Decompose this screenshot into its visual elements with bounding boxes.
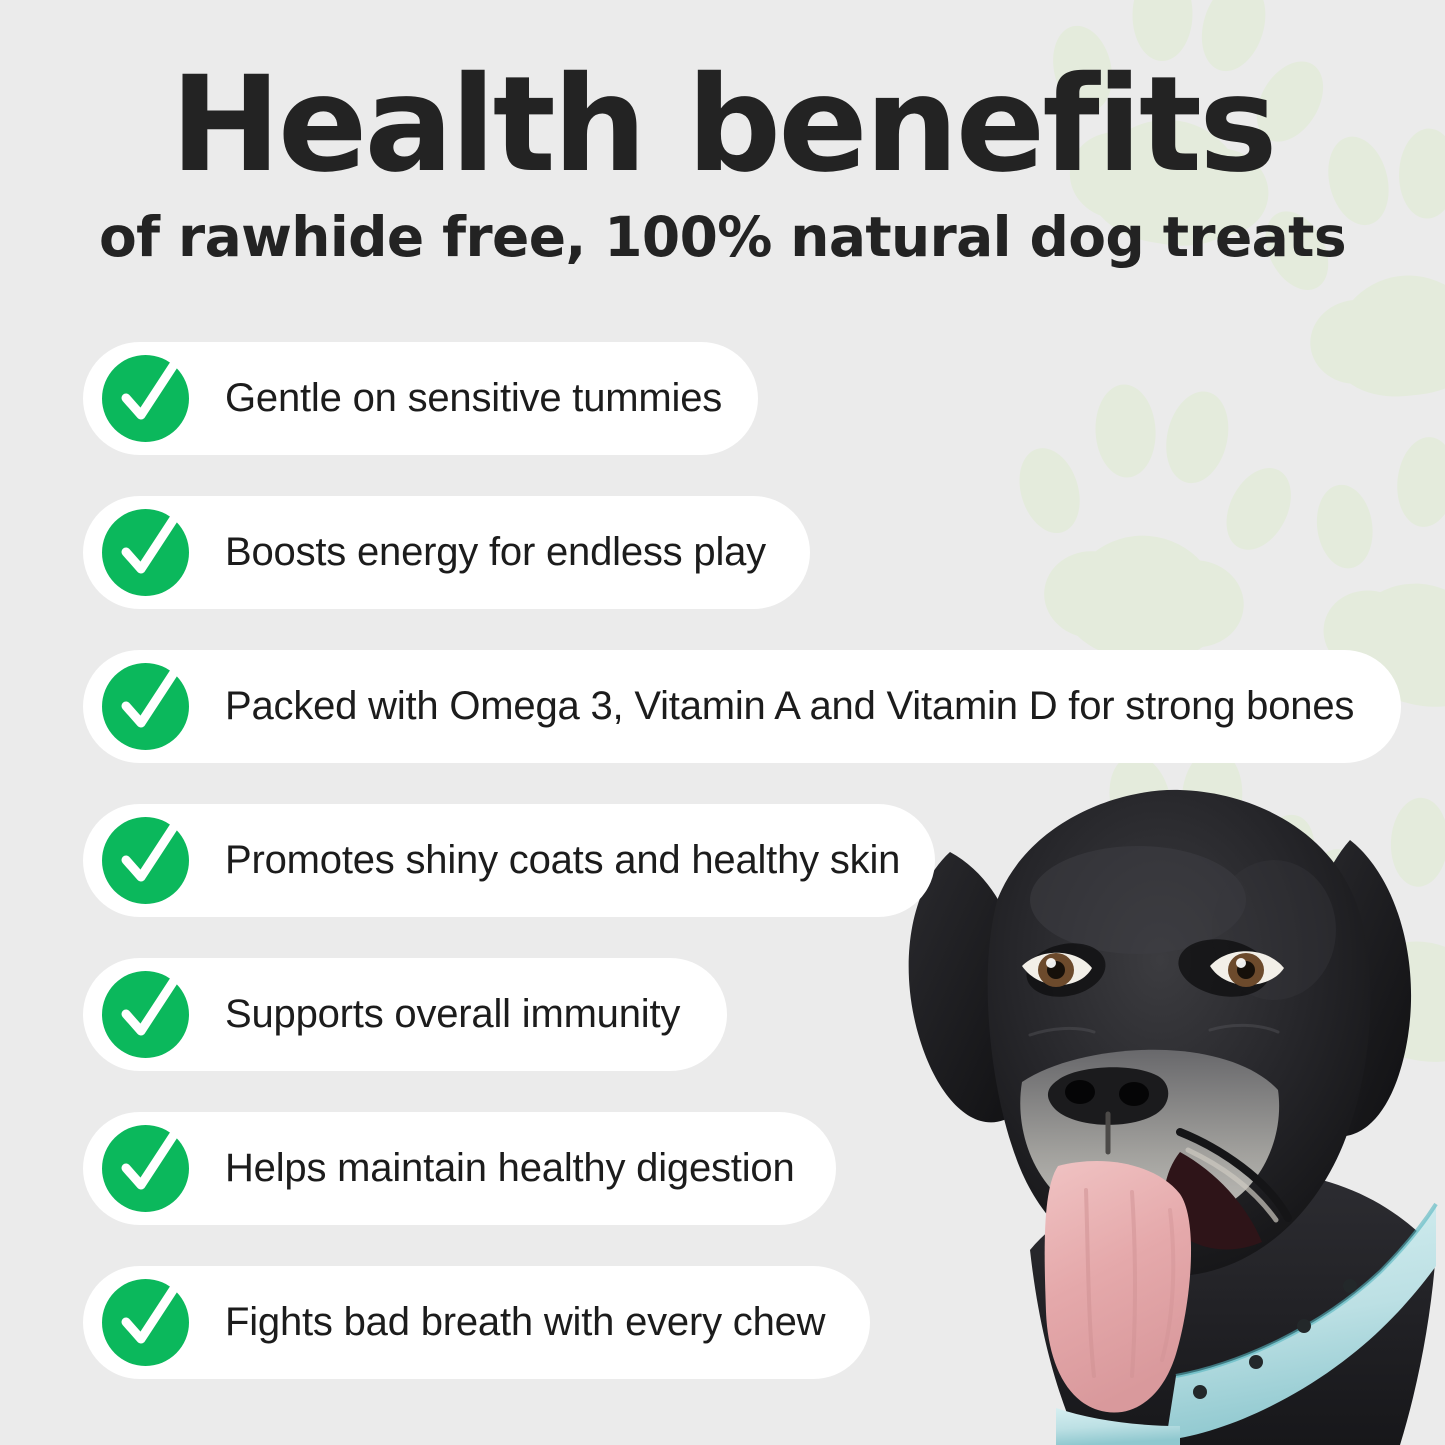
benefit-item-gentle-tummies[interactable]: Gentle on sensitive tummies (83, 342, 758, 455)
benefits-list: Gentle on sensitive tummies Boosts energ… (83, 342, 1413, 1420)
benefit-item-immunity[interactable]: Supports overall immunity (83, 958, 727, 1071)
benefit-item-boosts-energy[interactable]: Boosts energy for endless play (83, 496, 810, 609)
check-icon (102, 971, 189, 1058)
page-subtitle: of rawhide free, 100% natural dog treats (0, 209, 1445, 267)
check-icon (102, 1125, 189, 1212)
check-icon (102, 1279, 189, 1366)
benefit-label: Boosts energy for endless play (225, 530, 806, 575)
benefit-label: Supports overall immunity (225, 992, 720, 1037)
header-block: Health benefits of rawhide free, 100% na… (0, 58, 1445, 266)
benefit-item-shiny-coat[interactable]: Promotes shiny coats and healthy skin (83, 804, 935, 917)
benefit-item-bad-breath[interactable]: Fights bad breath with every chew (83, 1266, 870, 1379)
check-icon (102, 509, 189, 596)
page-title: Health benefits (0, 58, 1445, 193)
check-icon (102, 817, 189, 904)
check-icon (102, 355, 189, 442)
benefit-label: Gentle on sensitive tummies (225, 376, 762, 421)
benefit-label: Packed with Omega 3, Vitamin A and Vitam… (225, 684, 1394, 729)
check-icon (102, 663, 189, 750)
benefit-label: Helps maintain healthy digestion (225, 1146, 835, 1191)
benefit-label: Fights bad breath with every chew (225, 1300, 865, 1345)
health-benefits-graphic: Health benefits of rawhide free, 100% na… (0, 0, 1445, 1445)
benefit-item-digestion[interactable]: Helps maintain healthy digestion (83, 1112, 836, 1225)
benefit-label: Promotes shiny coats and healthy skin (225, 838, 940, 883)
benefit-item-omega-vitamins[interactable]: Packed with Omega 3, Vitamin A and Vitam… (83, 650, 1401, 763)
